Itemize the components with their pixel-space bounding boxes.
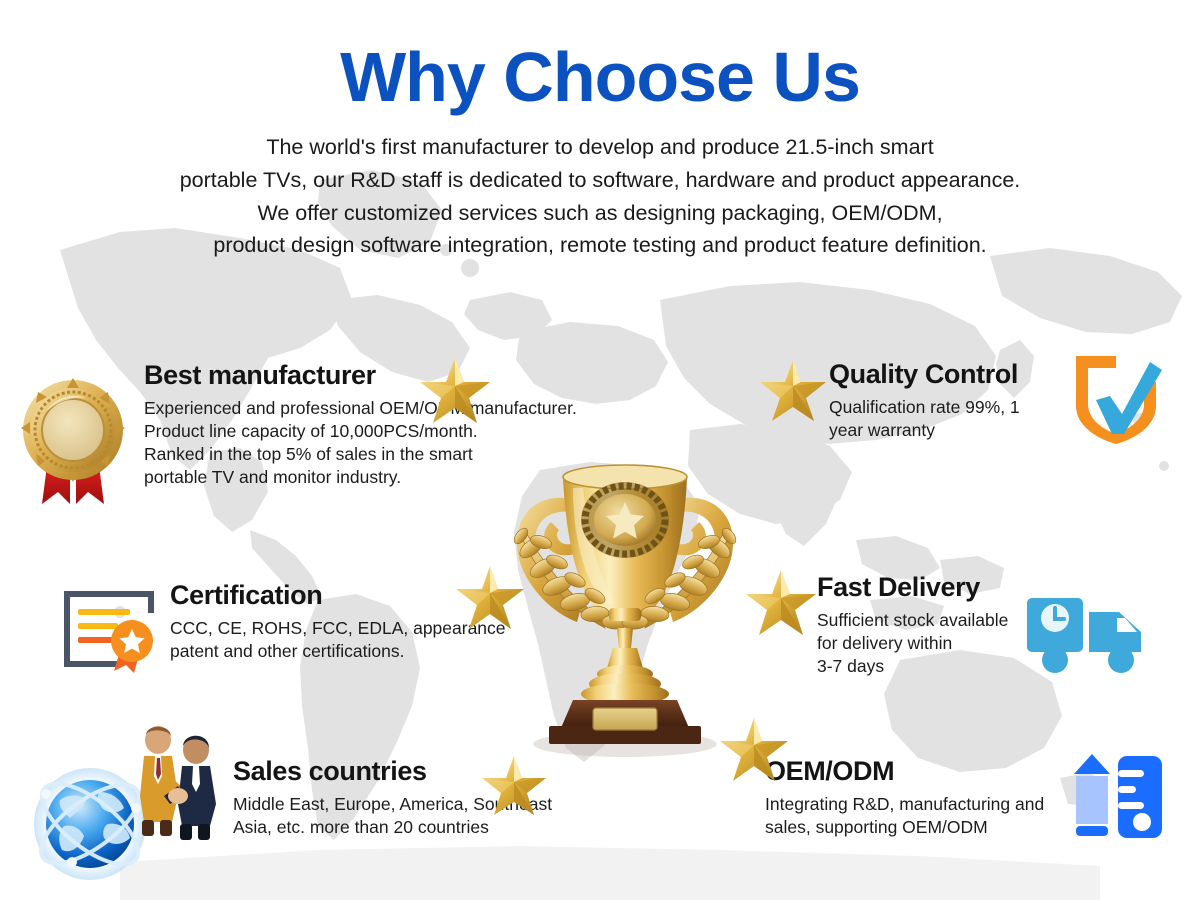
award-medal-icon — [12, 372, 134, 507]
feature-body-line: portable TV and monitor industry. — [144, 466, 574, 489]
feature-body-line: 3-7 days — [817, 655, 1077, 678]
feature-body-line: Qualification rate 99%, 1 — [829, 396, 1129, 419]
feature-oem-odm: OEM/ODM Integrating R&D, manufacturing a… — [765, 757, 1085, 839]
feature-body-line: Integrating R&D, manufacturing and — [765, 793, 1085, 816]
certificate-icon — [56, 583, 162, 675]
feature-fast-delivery: Fast Delivery Sufficient stock available… — [817, 573, 1077, 678]
feature-heading: Best manufacturer — [144, 361, 574, 391]
feature-heading: Fast Delivery — [817, 573, 1077, 603]
handshake-people-icon — [128, 722, 224, 842]
feature-body: Sufficient stock available for delivery … — [817, 609, 1077, 679]
gold-star-icon — [742, 566, 820, 638]
feature-body-line: sales, supporting OEM/ODM — [765, 816, 1085, 839]
feature-heading: OEM/ODM — [765, 757, 1085, 787]
feature-quality-control: Quality Control Qualification rate 99%, … — [829, 360, 1129, 442]
feature-body-line: year warranty — [829, 419, 1129, 442]
feature-body-line: Sufficient stock available — [817, 609, 1077, 632]
gold-star-icon — [716, 714, 792, 784]
feature-body-line: Ranked in the top 5% of sales in the sma… — [144, 443, 574, 466]
feature-body-line: Product line capacity of 10,000PCS/month… — [144, 420, 574, 443]
intro-line-1: The world's first manufacturer to develo… — [110, 131, 1090, 164]
gold-star-icon — [478, 752, 550, 818]
header-block: Why Choose Us The world's first manufact… — [0, 0, 1200, 262]
gold-star-icon — [452, 562, 528, 632]
gold-star-icon — [416, 354, 494, 426]
intro-paragraph: The world's first manufacturer to develo… — [110, 131, 1090, 262]
page-title: Why Choose Us — [0, 0, 1200, 113]
feature-body-line: patent and other certifications. — [170, 640, 530, 663]
infographic-canvas: Why Choose Us The world's first manufact… — [0, 0, 1200, 900]
gold-star-icon — [756, 356, 830, 424]
intro-line-3: We offer customized services such as des… — [110, 197, 1090, 230]
feature-body-line: Experienced and professional OEM/ODM man… — [144, 397, 574, 420]
feature-heading: Quality Control — [829, 360, 1129, 390]
feature-body: Qualification rate 99%, 1 year warranty — [829, 396, 1129, 443]
feature-body-line: Asia, etc. more than 20 countries — [233, 816, 593, 839]
intro-line-4: product design software integration, rem… — [110, 229, 1090, 262]
intro-line-2: portable TVs, our R&D staff is dedicated… — [110, 164, 1090, 197]
feature-body: Integrating R&D, manufacturing and sales… — [765, 793, 1085, 840]
feature-body-line: for delivery within — [817, 632, 1077, 655]
feature-body: Experienced and professional OEM/ODM man… — [144, 397, 574, 490]
feature-best-manufacturer: Best manufacturer Experienced and profes… — [144, 361, 574, 490]
